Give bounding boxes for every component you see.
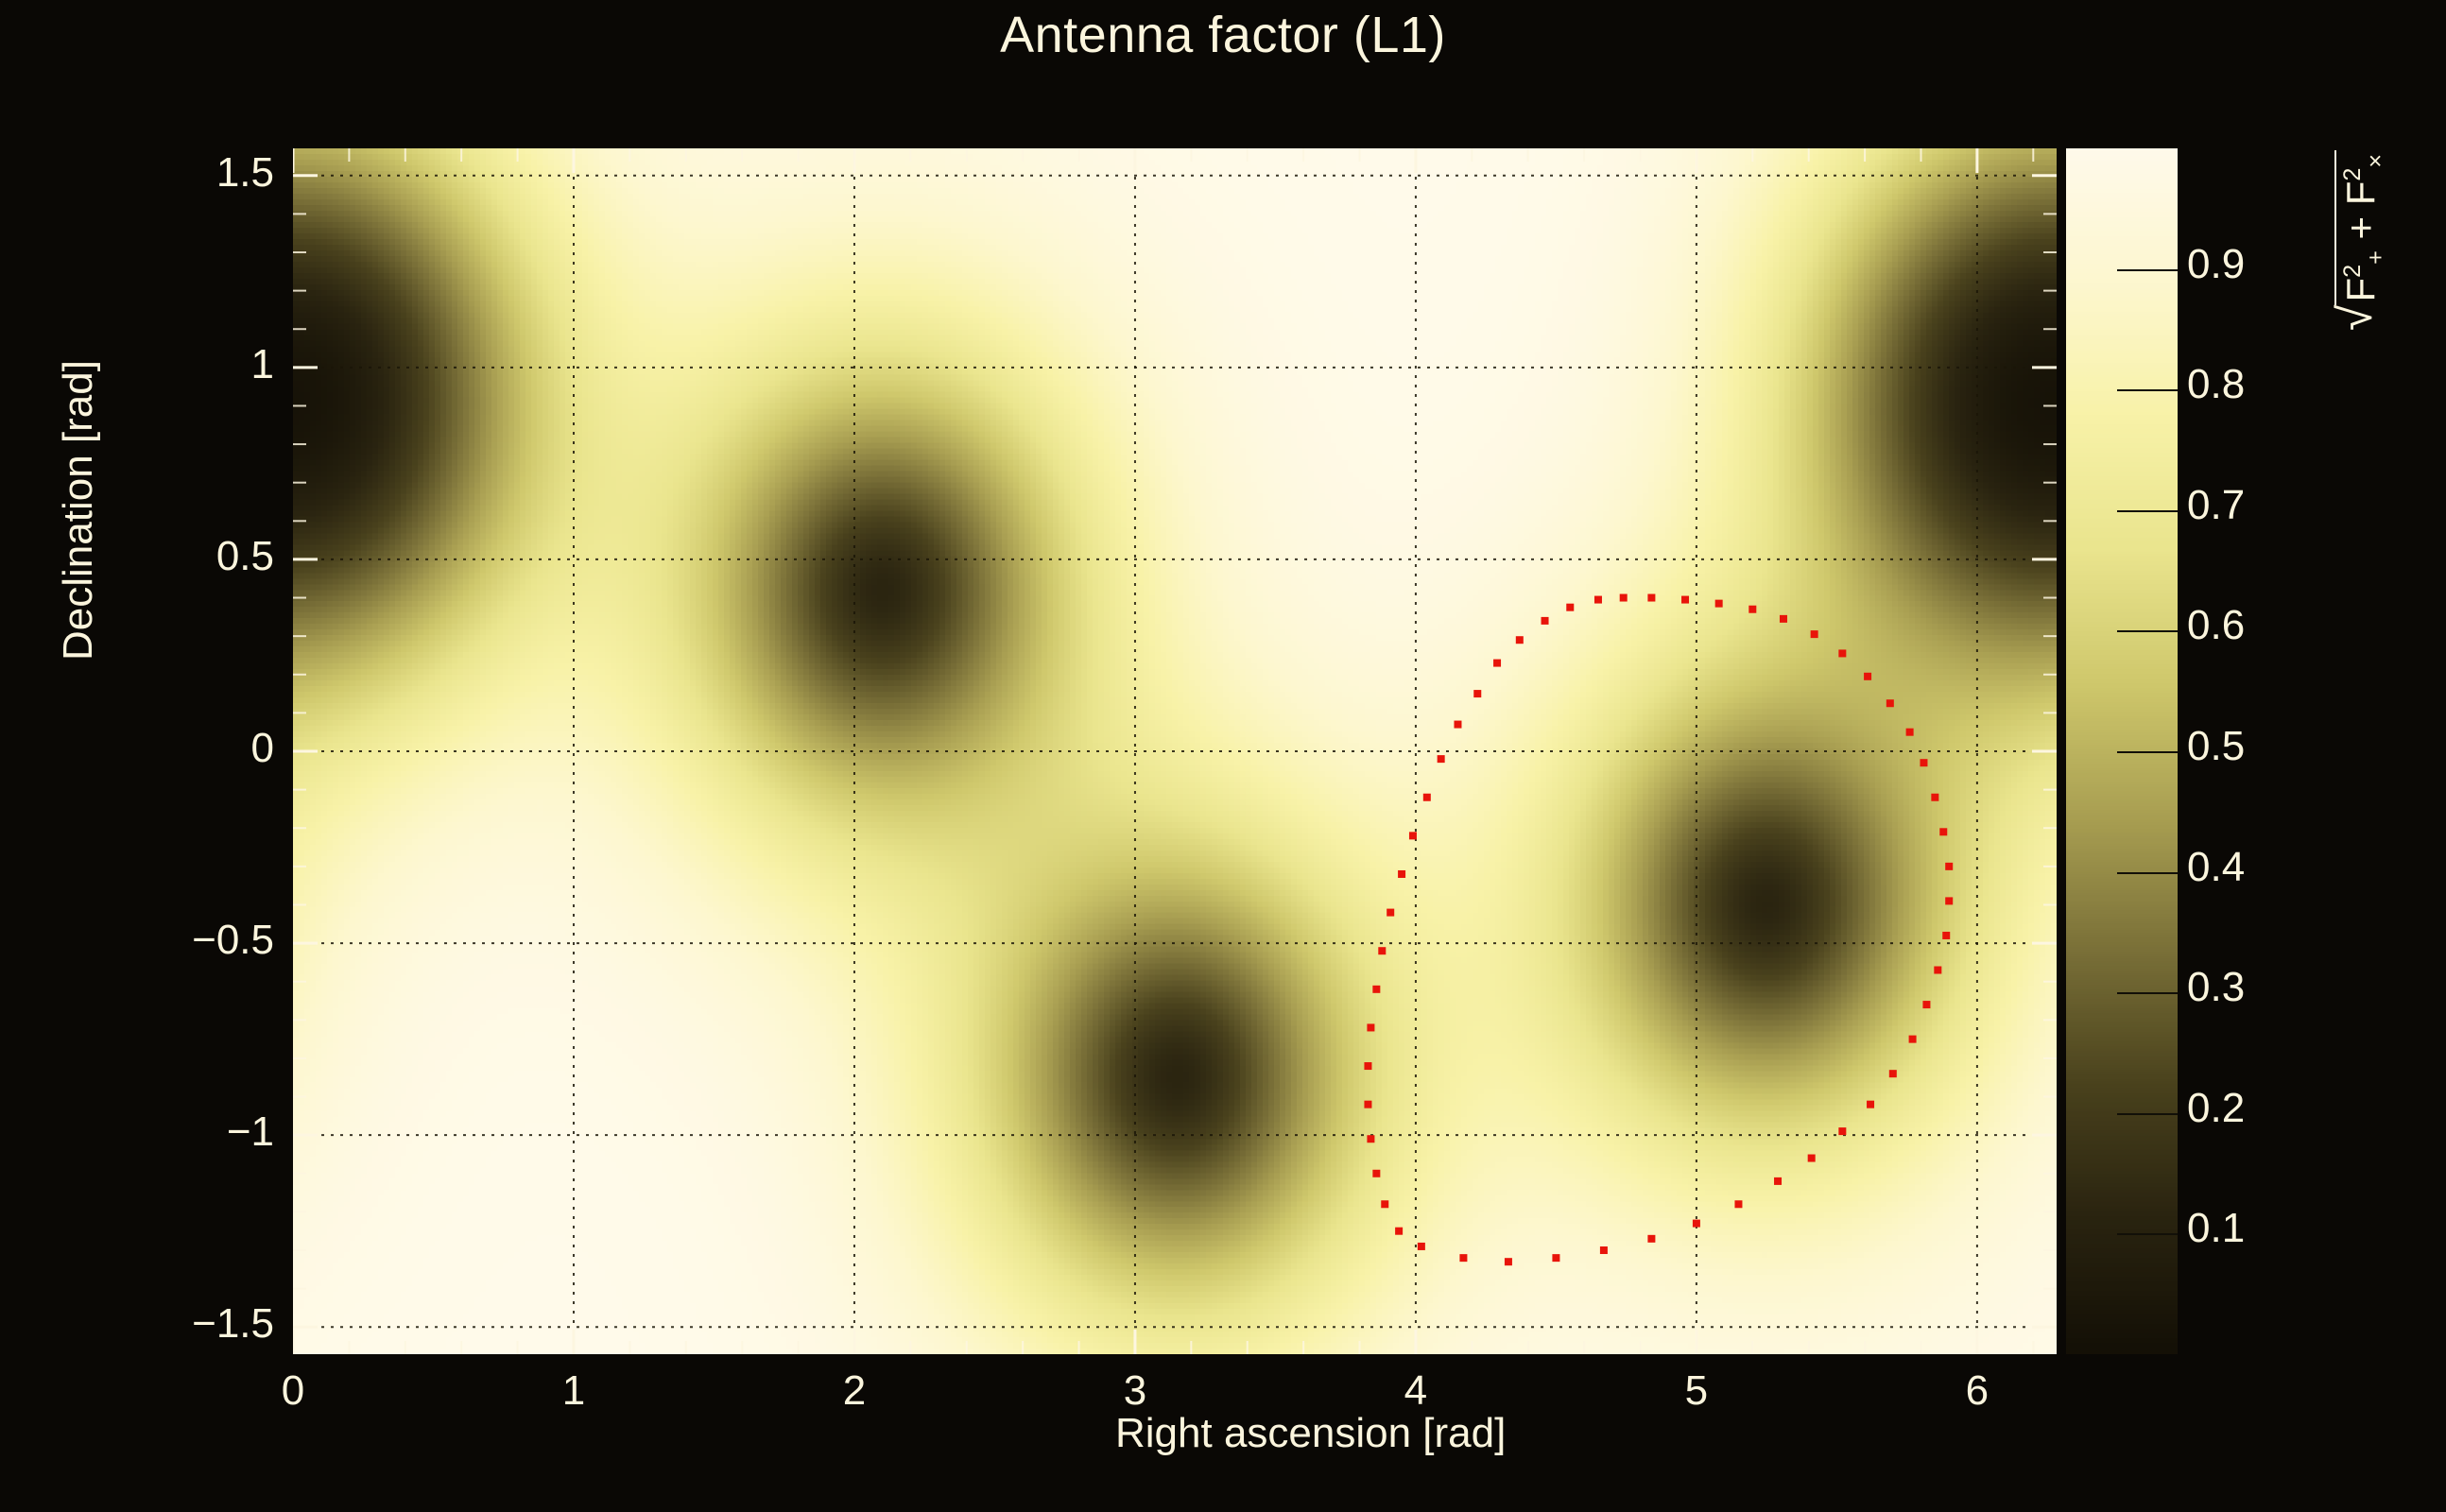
contour-point (1909, 1036, 1917, 1043)
contour-point (1454, 721, 1461, 729)
colorbar-tick-label: 0.2 (2187, 1085, 2245, 1132)
y-axis-label: Declination [rad] (55, 246, 102, 775)
contour-point (1398, 870, 1405, 878)
contour-point (1945, 863, 1953, 870)
contour-point (1748, 606, 1756, 613)
contour-point (1647, 594, 1655, 602)
y-tick-label: 0 (38, 725, 274, 772)
colorbar-tick-label: 0.8 (2187, 361, 2245, 408)
contour-point (1939, 828, 1947, 835)
radicand: F2+ + F2× (2334, 150, 2389, 305)
chart-title: Antenna factor (L1) (0, 6, 2446, 64)
y-tick-label: 0.5 (38, 533, 274, 580)
colorbar-tick-label: 0.3 (2187, 964, 2245, 1011)
contour-point (1473, 690, 1481, 697)
contour-point (1945, 897, 1953, 904)
colorbar-tick-label: 0.4 (2187, 844, 2245, 891)
plot-overlay (293, 148, 2057, 1354)
x-tick-label: 4 (1359, 1367, 1473, 1415)
colorbar-tick-mark (2117, 389, 2178, 391)
contour-point (1931, 794, 1938, 801)
contour-point (1920, 759, 1927, 766)
contour-point (1693, 1220, 1700, 1228)
contour-point (1889, 1070, 1897, 1077)
contour-point (1438, 755, 1445, 763)
contour-point (1418, 1243, 1425, 1250)
contour-point (1566, 604, 1574, 611)
colorbar-tick-mark (2117, 1233, 2178, 1235)
x-tick-label: 6 (1921, 1367, 2034, 1415)
contour-point (1922, 1001, 1930, 1008)
x-tick-label: 2 (798, 1367, 911, 1415)
contour-point (1838, 1127, 1846, 1135)
contour-point (1681, 596, 1689, 604)
contour-point (1372, 986, 1380, 993)
y-tick-label: −0.5 (38, 917, 274, 964)
contour-point (1838, 649, 1846, 657)
colorbar-tick-mark (2117, 630, 2178, 632)
colorbar-tick-mark (2117, 1113, 2178, 1115)
colorbar-tick-mark (2117, 992, 2178, 994)
f-plus-term: F2+ (2338, 250, 2383, 301)
y-tick-label: −1.5 (38, 1300, 274, 1348)
contour-point (1516, 636, 1524, 644)
sky-localization-contour (1364, 594, 1953, 1266)
colorbar-tick-label: 0.6 (2187, 602, 2245, 649)
plus-sign: + (2338, 216, 2383, 240)
contour-point (1542, 617, 1549, 625)
contour-point (1364, 1062, 1371, 1070)
contour-point (1934, 967, 1941, 974)
y-tick-label: 1.5 (38, 149, 274, 197)
colorbar-tick-mark (2117, 269, 2178, 271)
colorbar-tick-mark (2117, 872, 2178, 874)
f-cross-term: F2× (2338, 154, 2383, 205)
contour-point (1387, 909, 1394, 917)
colorbar-tick-label: 0.7 (2187, 482, 2245, 529)
contour-point (1423, 794, 1431, 801)
contour-point (1381, 1200, 1388, 1208)
colorbar-tick-mark (2117, 510, 2178, 512)
radical-icon: √ (2334, 305, 2389, 331)
contour-point (1715, 600, 1723, 608)
y-tick-label: 1 (38, 341, 274, 388)
x-tick-label: 3 (1078, 1367, 1192, 1415)
contour-point (1774, 1177, 1782, 1185)
x-tick-label: 1 (517, 1367, 630, 1415)
chart-root: Antenna factor (L1) Declination [rad] 1.… (0, 0, 2446, 1512)
contour-point (1864, 673, 1871, 680)
sqrt-expression: √ F2+ + F2× (2334, 150, 2389, 331)
x-tick-label: 0 (236, 1367, 350, 1415)
contour-point (1906, 729, 1914, 736)
colorbar-title: √ F2+ + F2× (2334, 150, 2389, 331)
contour-point (1552, 1254, 1559, 1262)
contour-point (1808, 1155, 1816, 1162)
contour-point (1364, 1101, 1371, 1108)
contour-point (1395, 1228, 1403, 1235)
contour-point (1367, 1135, 1374, 1143)
contour-point (1367, 1023, 1374, 1031)
contour-point (1886, 699, 1894, 707)
heatmap-plot-area (293, 148, 2057, 1354)
contour-point (1811, 630, 1818, 638)
contour-point (1459, 1254, 1467, 1262)
y-tick-label: −1 (38, 1108, 274, 1156)
contour-point (1942, 932, 1950, 939)
contour-point (1780, 615, 1787, 623)
x-tick-label: 5 (1640, 1367, 1753, 1415)
contour-point (1493, 660, 1501, 667)
colorbar-tick-label: 0.5 (2187, 723, 2245, 770)
contour-point (1409, 832, 1417, 839)
contour-point (1647, 1235, 1655, 1243)
contour-point (1372, 1170, 1380, 1177)
contour-point (1867, 1101, 1874, 1108)
contour-point (1378, 947, 1386, 954)
contour-point (1734, 1200, 1742, 1208)
contour-point (1505, 1258, 1512, 1265)
colorbar-tick-label: 0.9 (2187, 241, 2245, 288)
colorbar-tick-mark (2117, 751, 2178, 753)
x-axis-label: Right ascension [rad] (1115, 1410, 1506, 1457)
colorbar-tick-label: 0.1 (2187, 1205, 2245, 1252)
contour-point (1600, 1246, 1608, 1254)
contour-point (1594, 596, 1602, 604)
contour-point (1620, 594, 1628, 602)
